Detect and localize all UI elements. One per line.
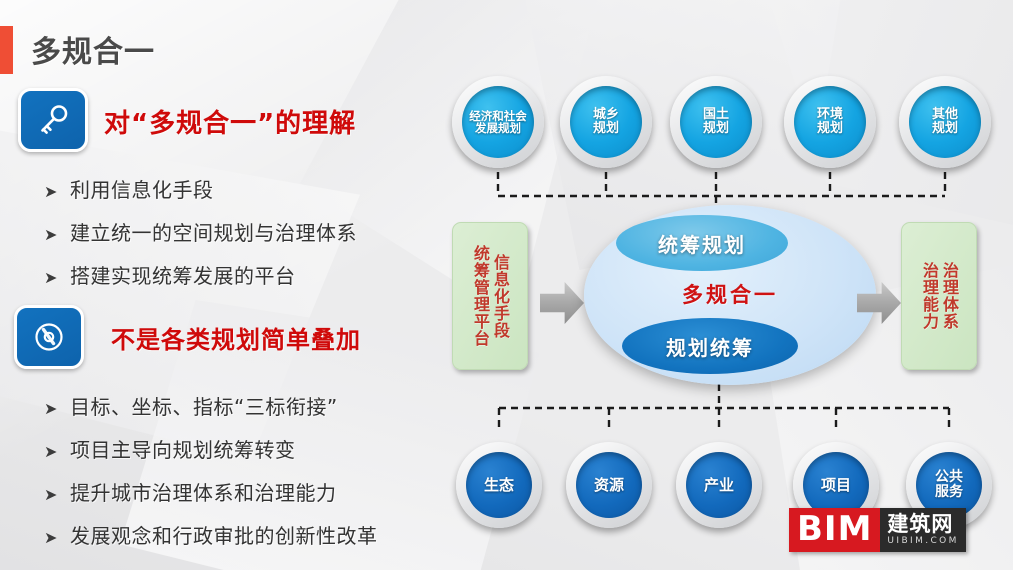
left-green-panel[interactable]: 信息化手段 统筹管理平台 [452, 222, 528, 370]
core-top-label: 统筹规划 [658, 229, 746, 258]
node-label: 资源 [576, 452, 642, 518]
node-label: 其他规划 [909, 86, 981, 158]
watermark-right: 建筑网 UIBIM.COM [880, 508, 965, 552]
watermark-url: UIBIM.COM [887, 537, 958, 546]
core-bottom-label: 规划统筹 [666, 332, 754, 361]
diagram-node-top[interactable]: 环境规划 [784, 76, 876, 168]
node-label: 生态 [466, 452, 532, 518]
diagram-node-bottom[interactable]: 产业 [676, 442, 762, 528]
diagram-node-top[interactable]: 国土规划 [670, 76, 762, 168]
core-bottom-lobe: 规划统筹 [622, 318, 798, 374]
right-green-panel[interactable]: 治理体系 治理能力 [901, 222, 977, 370]
node-label: 产业 [686, 452, 752, 518]
core-center-label: 多规合一 [584, 279, 876, 309]
watermark: BIM 建筑网 UIBIM.COM [789, 508, 966, 552]
diagram-node-top[interactable]: 城乡规划 [560, 76, 652, 168]
diagram-node-top[interactable]: 经济和社会发展规划 [452, 76, 544, 168]
diagram-node-top[interactable]: 其他规划 [899, 76, 991, 168]
node-label: 经济和社会发展规划 [462, 86, 534, 158]
slide-canvas: 多规合一 对“多规合一”的理解 ➤ 利用信息化手段 ➤ 建立统一的空间规划与治理… [0, 0, 1013, 570]
right-panel-line-2: 治理能力 [921, 262, 937, 330]
core-top-lobe: 统筹规划 [616, 215, 788, 271]
watermark-cn-label: 建筑网 [887, 514, 958, 535]
node-label: 城乡规划 [570, 86, 642, 158]
watermark-bim: BIM [789, 508, 880, 552]
left-panel-line-2: 统筹管理平台 [472, 245, 488, 347]
left-panel-line-1: 信息化手段 [492, 254, 508, 339]
core-ellipse[interactable]: 统筹规划 多规合一 规划统筹 [584, 205, 876, 385]
diagram: 经济和社会发展规划 城乡规划 国土规划 环境规划 其他规划 信息化手段 统筹管理… [0, 0, 1013, 570]
node-label: 国土规划 [680, 86, 752, 158]
right-panel-line-1: 治理体系 [941, 262, 957, 330]
node-label: 环境规划 [794, 86, 866, 158]
diagram-node-bottom[interactable]: 资源 [566, 442, 652, 528]
diagram-node-bottom[interactable]: 生态 [456, 442, 542, 528]
